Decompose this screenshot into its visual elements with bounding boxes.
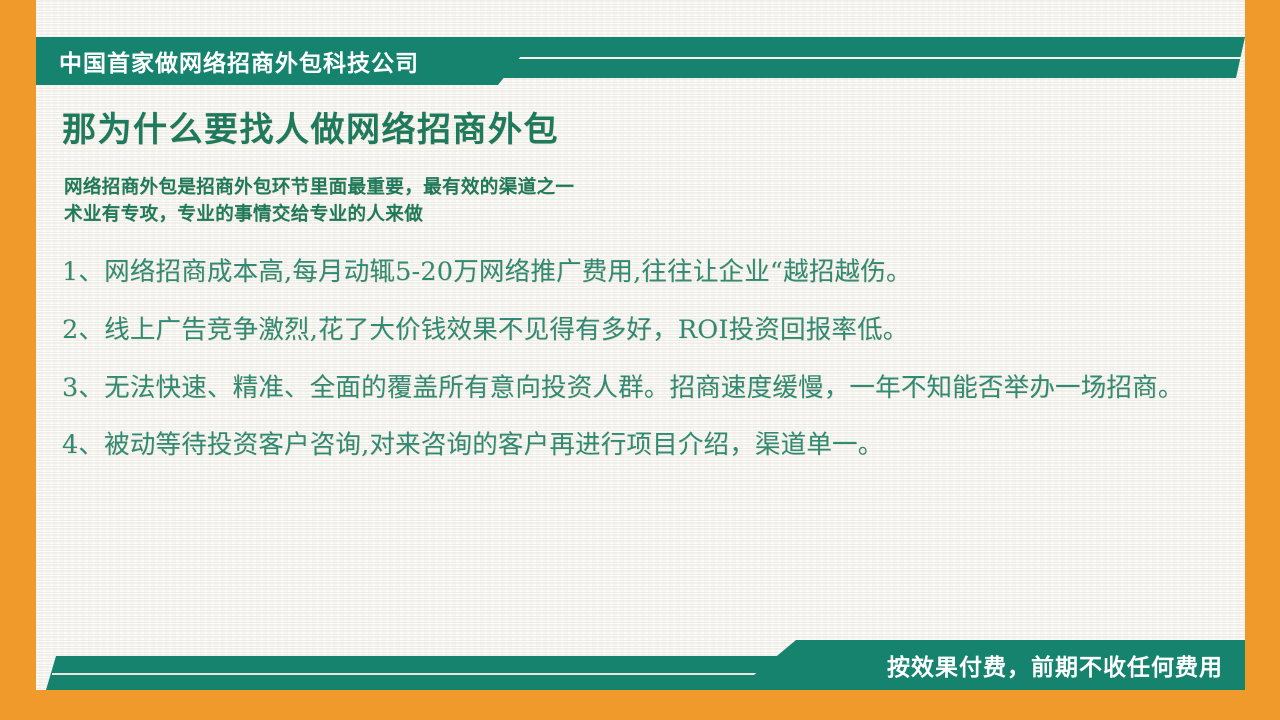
footer-hairline-divider bbox=[52, 673, 792, 675]
page-title: 那为什么要找人做网络招商外包 bbox=[62, 110, 1245, 151]
footer-slogan-block: 按效果付费，前期不收任何费用 bbox=[736, 640, 1245, 690]
list-item: 4、被动等待投资客户咨询,对来咨询的客户再进行项目介绍，渠道单一。 bbox=[62, 429, 1222, 463]
company-badge-text: 中国首家做网络招商外包科技公司 bbox=[59, 44, 419, 78]
footer-slogan-text: 按效果付费，前期不收任何费用 bbox=[887, 648, 1223, 682]
points-list: 1、网络招商成本高,每月动辄5-20万网络推广费用,往往让企业“越招越伤。 2、… bbox=[62, 256, 1222, 463]
list-item: 3、无法快速、精准、全面的覆盖所有意向投资人群。招商速度缓慢，一年不知能否举办一… bbox=[62, 372, 1222, 406]
slide-content: 那为什么要找人做网络招商外包 网络招商外包是招商外包环节里面最重要，最有效的渠道… bbox=[36, 110, 1245, 463]
slide-canvas: 中国首家做网络招商外包科技公司 那为什么要找人做网络招商外包 网络招商外包是招商… bbox=[0, 0, 1280, 720]
list-item: 2、线上广告竞争激烈,花了大价钱效果不见得有多好，ROI投资回报率低。 bbox=[62, 314, 1222, 348]
subtitle-line-1: 网络招商外包是招商外包环节里面最重要，最有效的渠道之一 bbox=[64, 175, 1245, 202]
subtitle-group: 网络招商外包是招商外包环节里面最重要，最有效的渠道之一 术业有专攻，专业的事情交… bbox=[64, 175, 1245, 229]
list-item: 1、网络招商成本高,每月动辄5-20万网络推广费用,往往让企业“越招越伤。 bbox=[62, 256, 1222, 290]
subtitle-line-2: 术业有专攻，专业的事情交给专业的人来做 bbox=[64, 202, 1245, 229]
footer-band: 按效果付费，前期不收任何费用 bbox=[36, 640, 1245, 690]
header-title-block: 中国首家做网络招商外包科技公司 bbox=[36, 37, 536, 85]
header-band: 中国首家做网络招商外包科技公司 bbox=[36, 37, 1245, 85]
